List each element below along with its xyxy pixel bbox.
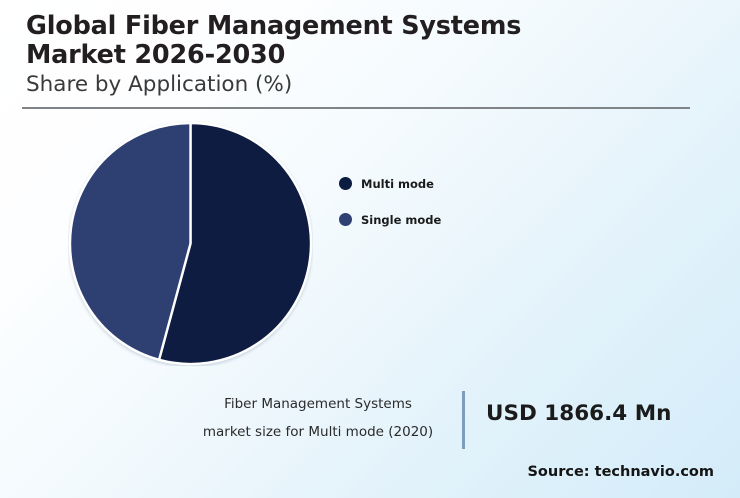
legend-item-single-mode[interactable]: Single mode [339, 208, 519, 231]
legend-item-label: Multi mode [361, 177, 434, 191]
page-title-line-1: Global Fiber Management Systems [26, 12, 696, 41]
stat-caption-line-1: Fiber Management Systems [188, 390, 448, 418]
pie-chart-svg [68, 121, 313, 366]
title-divider-rule [22, 107, 690, 109]
highlight-stat-block: Fiber Management Systems market size for… [188, 390, 728, 452]
pie-chart [68, 121, 313, 366]
stat-caption: Fiber Management Systems market size for… [188, 390, 448, 446]
page-title-line-2: Market 2026-2030 [26, 41, 696, 70]
legend-dot-icon [339, 213, 352, 226]
source-attribution: Source: technavio.com [527, 464, 714, 480]
chart-header: Global Fiber Management Systems Market 2… [26, 12, 696, 98]
stat-vertical-divider [462, 391, 465, 449]
legend-item-label: Single mode [361, 213, 441, 227]
infographic-card: Global Fiber Management Systems Market 2… [0, 0, 740, 498]
chart-legend: Multi mode Single mode [339, 172, 519, 244]
legend-item-multi-mode[interactable]: Multi mode [339, 172, 519, 195]
page-subtitle: Share by Application (%) [26, 71, 696, 98]
stat-value: USD 1866.4 Mn [486, 401, 671, 426]
stat-caption-line-2: market size for Multi mode (2020) [188, 418, 448, 446]
legend-dot-icon [339, 177, 352, 190]
